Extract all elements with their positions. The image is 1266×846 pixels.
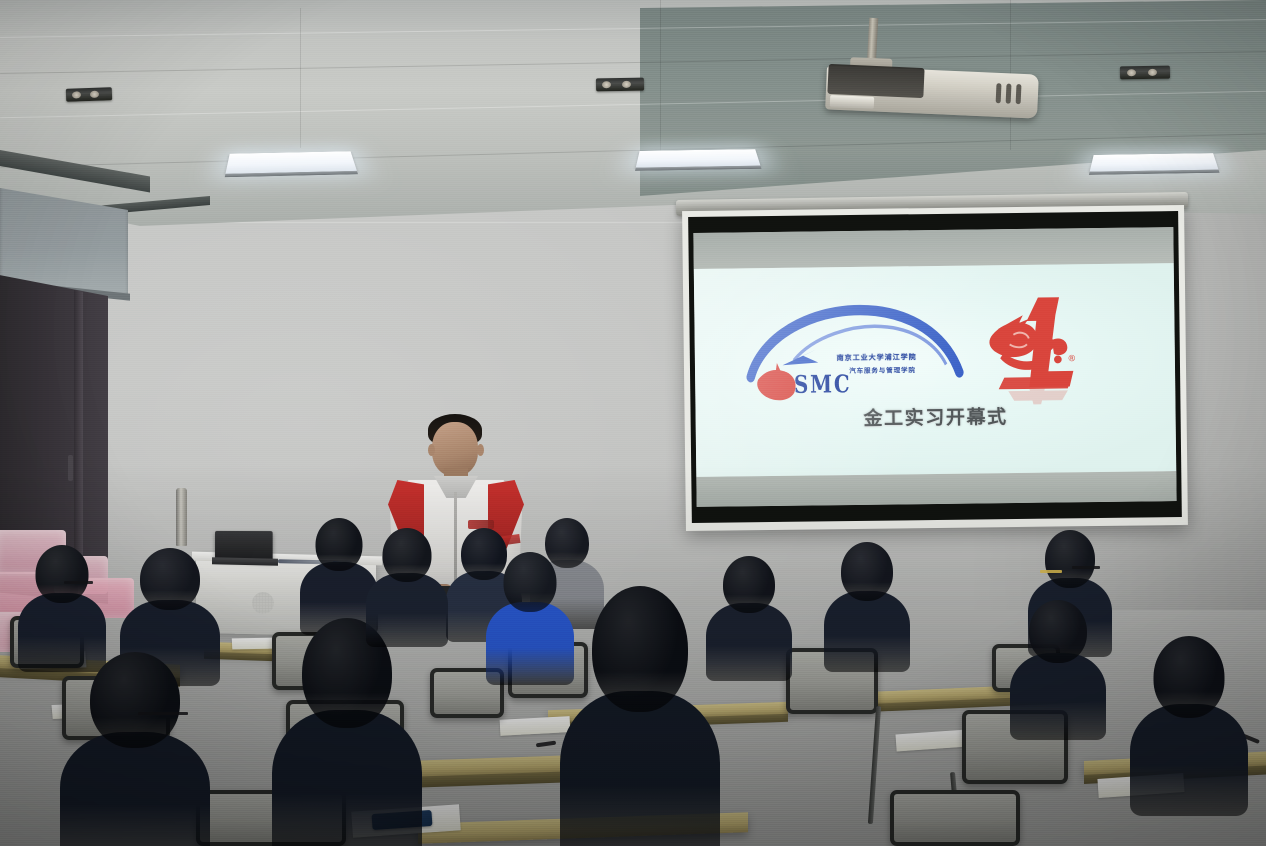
student-head xyxy=(1045,530,1095,588)
ceiling-seam xyxy=(300,8,301,148)
student-head xyxy=(140,548,200,610)
chair-backrest xyxy=(890,790,1020,846)
classroom-photo: SMC 南京工业大学浦江学院 汽车服务与管理学院 xyxy=(0,0,1266,846)
student-head xyxy=(90,652,180,748)
student-torso xyxy=(1010,653,1106,740)
presenter-ear xyxy=(477,444,484,456)
student-head xyxy=(504,552,557,612)
student-head xyxy=(841,542,893,601)
projector-lens xyxy=(830,95,874,109)
student xyxy=(560,586,720,846)
podium-speaker xyxy=(252,592,274,614)
ceiling-light-panel xyxy=(1090,153,1219,171)
student-torso xyxy=(1130,704,1248,816)
ceiling-seam xyxy=(660,0,661,170)
gold-glasses-icon xyxy=(1040,570,1062,573)
bottle xyxy=(176,488,187,546)
student-torso xyxy=(272,710,422,846)
student xyxy=(486,552,574,678)
screen-surface: SMC 南京工业大学浦江学院 汽车服务与管理学院 xyxy=(693,227,1176,507)
student-head xyxy=(1154,636,1225,718)
student-glasses xyxy=(64,581,93,584)
student-glasses xyxy=(1072,566,1100,569)
student-torso xyxy=(824,591,910,672)
student-torso xyxy=(366,573,448,647)
student-head xyxy=(1029,600,1087,663)
student xyxy=(18,545,106,665)
student-head xyxy=(592,586,688,712)
ceiling-light-panel xyxy=(225,151,356,173)
student-head xyxy=(383,528,432,582)
screen-glare xyxy=(694,263,1177,477)
projector-vent xyxy=(996,83,1037,107)
screen-band-top xyxy=(693,227,1173,269)
screen-band-bottom xyxy=(696,471,1176,507)
window-mullion xyxy=(74,290,83,588)
ceiling-light-panel xyxy=(636,149,761,167)
student-torso xyxy=(560,691,720,846)
student-head xyxy=(36,545,89,603)
student xyxy=(1130,636,1248,806)
student xyxy=(824,542,910,664)
student xyxy=(60,652,210,846)
student-torso xyxy=(486,602,574,685)
student-glasses xyxy=(138,712,188,715)
recessed-spotlight-icon xyxy=(596,78,644,92)
projector-cabling xyxy=(827,64,924,98)
recessed-spotlight-icon xyxy=(1120,66,1170,80)
student-head xyxy=(316,518,363,571)
student xyxy=(366,528,448,640)
projection-screen: SMC 南京工业大学浦江学院 汽车服务与管理学院 xyxy=(682,205,1188,531)
student-torso xyxy=(60,732,210,846)
presentation-slide: SMC 南京工业大学浦江学院 汽车服务与管理学院 xyxy=(694,263,1177,477)
window-handle[interactable] xyxy=(68,455,73,481)
presenter-ear xyxy=(428,444,435,456)
recessed-spotlight-icon xyxy=(66,87,112,102)
chair xyxy=(890,790,1020,846)
student-head xyxy=(723,556,775,613)
paper xyxy=(232,638,277,650)
student xyxy=(1010,600,1106,732)
student xyxy=(272,618,422,846)
